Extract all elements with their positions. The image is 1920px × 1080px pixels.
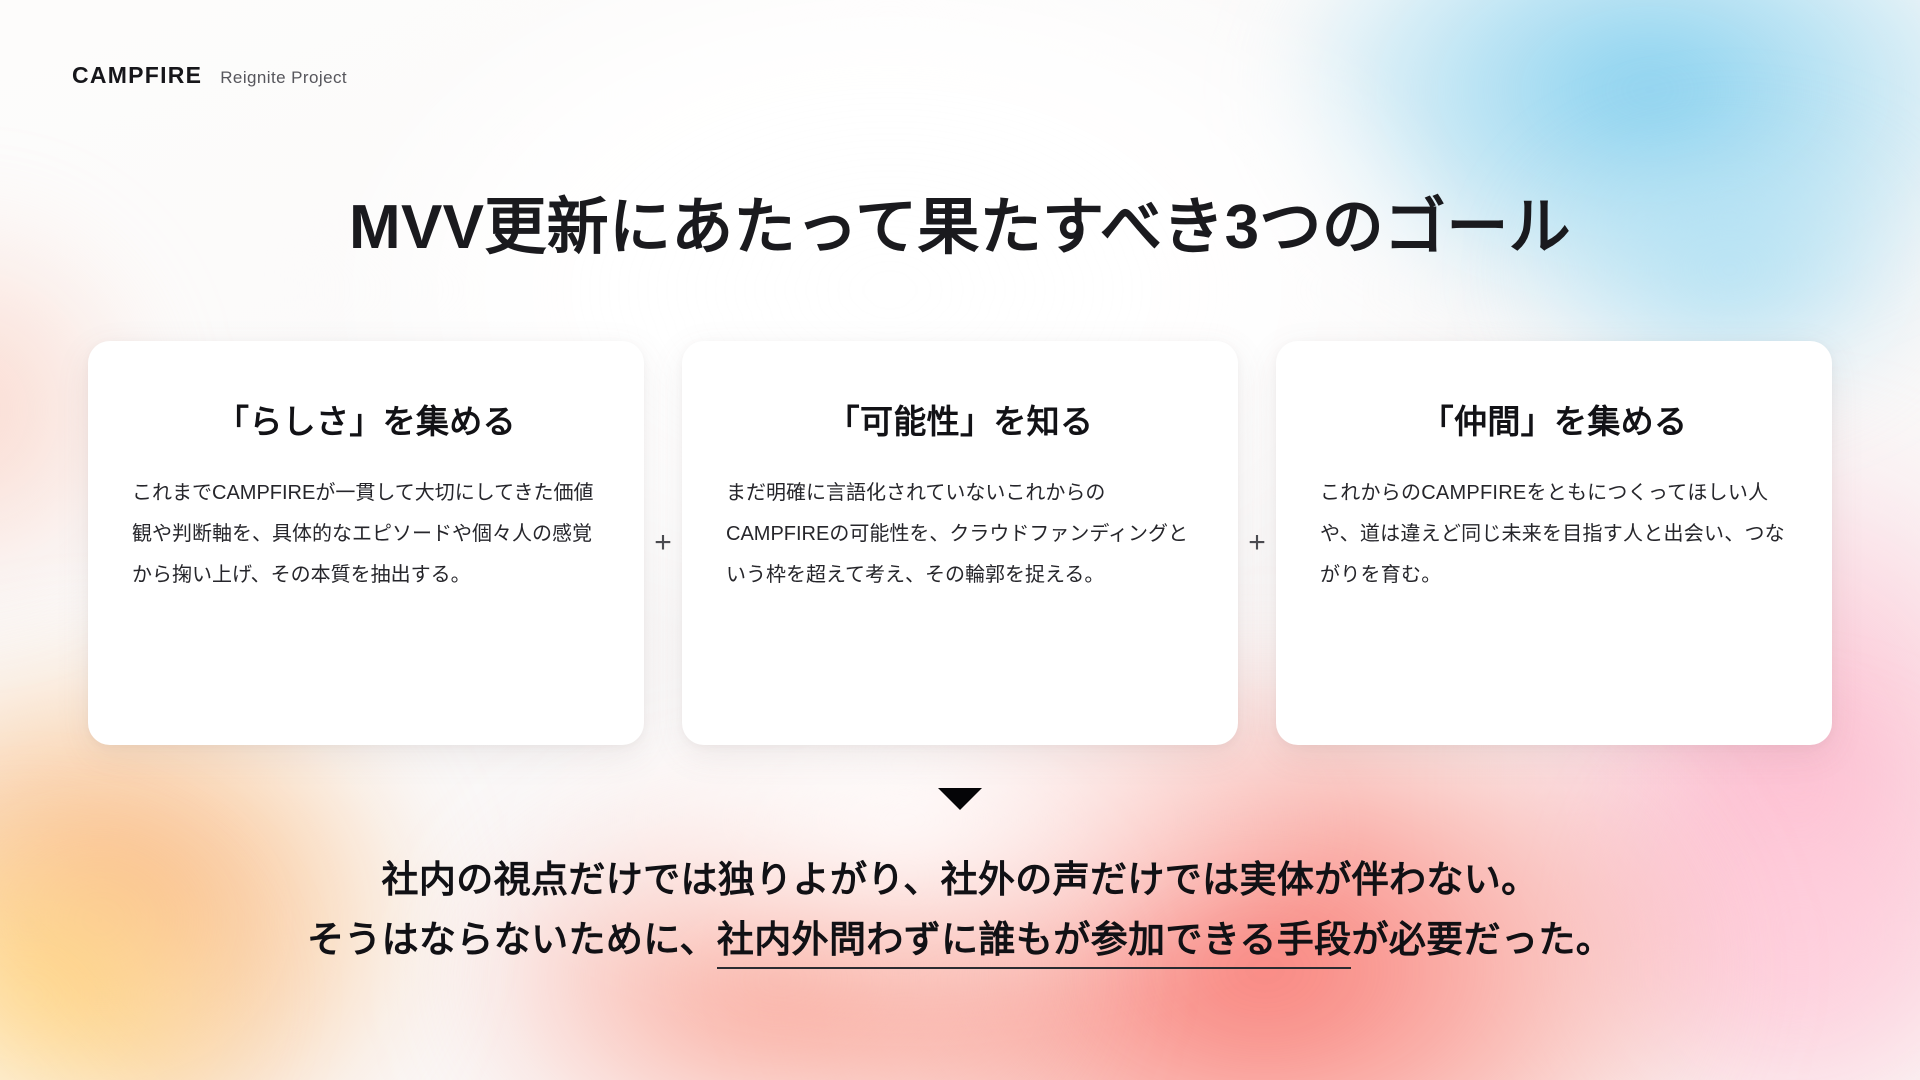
goal-card-3-title: 「仲間」を集める [1421,395,1688,443]
campfire-logo-text: CAMPFIRE [72,62,202,89]
closing-line-2-suffix: が必要だった。 [1351,919,1613,960]
goal-card-2-body: まだ明確に言語化されていないこれからのCAMPFIREの可能性を、クラウドファン… [726,473,1194,596]
goal-cards-row: 「らしさ」を集める これまでCAMPFIREが一貫して大切にしてきた価値観や判断… [88,341,1832,745]
closing-line-2: そうはならないために、社内外問わずに誰もが参加できる手段が必要だった。 [0,910,1920,970]
closing-line-2-prefix: そうはならないために、 [307,919,717,960]
triangle-down-icon [938,788,982,810]
slide-canvas: CAMPFIRE Reignite Project MVV更新にあたって果たすべ… [0,0,1920,1080]
goal-card-1-body: これまでCAMPFIREが一貫して大切にしてきた価値観や判断軸を、具体的なエピソ… [132,473,600,596]
goal-card-2-title: 「可能性」を知る [827,395,1094,443]
plus-connector-2: + [1238,528,1276,558]
plus-connector-1: + [644,528,682,558]
content-layer: CAMPFIRE Reignite Project MVV更新にあたって果たすべ… [0,0,1920,1080]
goal-card-1: 「らしさ」を集める これまでCAMPFIREが一貫して大切にしてきた価値観や判断… [88,341,644,745]
brand-header: CAMPFIRE Reignite Project [72,62,347,89]
goal-card-2: 「可能性」を知る まだ明確に言語化されていないこれからのCAMPFIREの可能性… [682,341,1238,745]
goal-card-3: 「仲間」を集める これからのCAMPFIREをともにつくってほしい人や、道は違え… [1276,341,1832,745]
closing-line-2-emphasis: 社内外問わずに誰もが参加できる手段 [717,919,1352,969]
closing-statement: 社内の視点だけでは独りよがり、社外の声だけでは実体が伴わない。 そうはならないた… [0,850,1920,970]
goal-card-1-title: 「らしさ」を集める [216,395,516,443]
closing-line-1: 社内の視点だけでは独りよがり、社外の声だけでは実体が伴わない。 [0,850,1920,910]
page-title: MVV更新にあたって果たすべき3つのゴール [0,176,1920,266]
project-subtitle: Reignite Project [220,68,347,88]
goal-card-3-body: これからのCAMPFIREをともにつくってほしい人や、道は違えど同じ未来を目指す… [1320,473,1788,596]
